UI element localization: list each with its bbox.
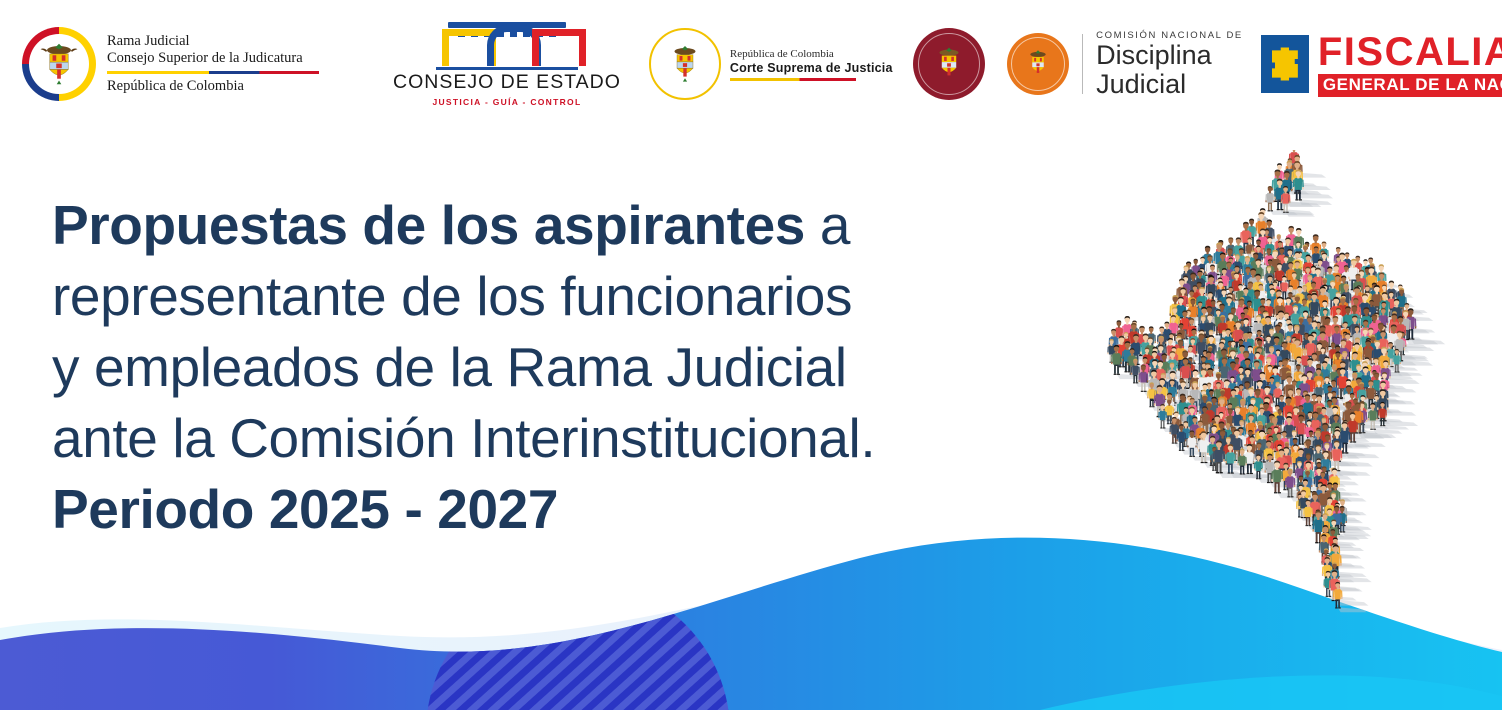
rama-judicial-line2: Consejo Superior de la Judicatura: [107, 50, 319, 67]
wave-pale-blue-right: [1180, 648, 1502, 710]
disciplina-judicial-kicker: COMISIÓN NACIONAL DE: [1096, 30, 1243, 41]
corte-suprema-rule: [730, 78, 856, 81]
corte-suprema-line1: República de Colombia: [730, 48, 893, 60]
consejo-de-estado-tagline: JUSTICIA - GUÍA - CONTROL: [432, 97, 581, 107]
headline-line-5: Periodo 2025 - 2027: [52, 474, 1092, 545]
fiscalia-text: FISCALIA GENERAL DE LA NACION: [1318, 32, 1502, 97]
headline-line-1-rest: a: [805, 194, 850, 256]
fiscalia-puzzle-icon: [1261, 35, 1309, 93]
coat-of-arms-svg: [930, 45, 968, 83]
logo-consejo-de-estado: CONSEJO DE ESTADO JUSTICIA - GUÍA - CONT…: [393, 22, 621, 107]
crowd-map-svg: [1090, 150, 1490, 620]
logo-corte-constitucional: [913, 28, 985, 100]
colombia-coat-of-arms-ring-icon: [22, 27, 96, 101]
tricolor-building-icon: [436, 22, 578, 70]
logo-rama-judicial-text: Rama Judicial Consejo Superior de la Jud…: [107, 33, 319, 95]
fiscalia-subtitle: GENERAL DE LA NACION: [1318, 74, 1502, 97]
consejo-de-estado-name: CONSEJO DE ESTADO: [393, 71, 621, 94]
headline-bold-lead: Propuestas de los aspirantes: [52, 194, 805, 256]
disciplina-judicial-line2: Judicial: [1096, 70, 1243, 99]
disciplina-judicial-text: COMISIÓN NACIONAL DE Disciplina Judicial: [1096, 30, 1243, 99]
fiscalia-title: FISCALIA: [1318, 32, 1502, 72]
headline-line-4: ante la Comisión Interinstitucional.: [52, 403, 1092, 474]
wave-cyan-overlap: [1040, 675, 1502, 710]
striped-circle-motif: [426, 580, 730, 710]
headline-line-1: Propuestas de los aspirantes a: [52, 190, 1092, 261]
disciplina-judicial-divider: [1082, 34, 1084, 94]
institutional-logo-bar: Rama Judicial Consejo Superior de la Jud…: [0, 0, 1502, 128]
hero-headline: Propuestas de los aspirantes a represent…: [52, 190, 1092, 545]
crowd-colombia-map-illustration: [1090, 150, 1490, 620]
corte-suprema-line2: Corte Suprema de Justicia: [730, 61, 893, 75]
headline-line-2: representante de los funcionarios: [52, 261, 1092, 332]
logo-fiscalia-general-de-la-nacion: FISCALIA GENERAL DE LA NACION: [1261, 32, 1502, 97]
coat-of-arms-svg: [36, 41, 82, 87]
coat-of-arms-svg: [664, 43, 706, 85]
crowd-people-group: [1107, 150, 1445, 612]
logo-comision-nacional-disciplina-judicial: COMISIÓN NACIONAL DE Disciplina Judicial: [1007, 30, 1243, 99]
corte-constitucional-seal-icon: [913, 28, 985, 100]
headline-period: Periodo 2025 - 2027: [52, 478, 558, 540]
rama-judicial-tricolor-rule: [107, 71, 319, 74]
rama-judicial-line3: República de Colombia: [107, 78, 319, 95]
corte-suprema-text: República de Colombia Corte Suprema de J…: [730, 48, 893, 81]
disciplina-judicial-line1: Disciplina: [1096, 41, 1243, 70]
colombia-coat-of-arms-gold-ring-icon: [649, 28, 721, 100]
coat-of-arms-svg: [1022, 48, 1054, 80]
disciplina-judicial-seal-icon: [1007, 33, 1069, 95]
logo-corte-suprema-de-justicia: República de Colombia Corte Suprema de J…: [649, 28, 893, 100]
rama-judicial-line1: Rama Judicial: [107, 33, 319, 50]
logo-rama-judicial: Rama Judicial Consejo Superior de la Jud…: [22, 27, 319, 101]
headline-line-3: y empleados de la Rama Judicial: [52, 332, 1092, 403]
